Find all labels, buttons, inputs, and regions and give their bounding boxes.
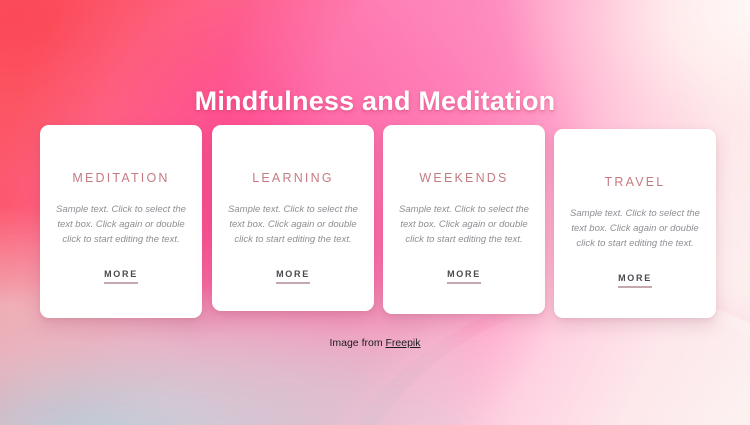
image-credit-prefix: Image from xyxy=(329,337,385,349)
card-title: TRAVEL xyxy=(567,175,703,189)
card-content: TRAVEL Sample text. Click to select the … xyxy=(554,175,716,288)
card-more-container: MORE xyxy=(567,268,703,288)
card-body-text: Sample text. Click to select the text bo… xyxy=(53,202,189,247)
card-title: WEEKENDS xyxy=(396,171,532,185)
more-link[interactable]: MORE xyxy=(447,269,481,284)
card-title: LEARNING xyxy=(225,171,361,185)
card-weekends[interactable]: WEEKENDS Sample text. Click to select th… xyxy=(383,125,545,314)
card-content: LEARNING Sample text. Click to select th… xyxy=(212,171,374,284)
page-title: Mindfulness and Meditation xyxy=(0,86,750,117)
more-link[interactable]: MORE xyxy=(104,269,138,284)
freepik-link[interactable]: Freepik xyxy=(386,337,421,349)
card-content: WEEKENDS Sample text. Click to select th… xyxy=(383,171,545,284)
page-root: Mindfulness and Meditation MEDITATION Sa… xyxy=(0,0,750,425)
card-body-text: Sample text. Click to select the text bo… xyxy=(567,206,703,251)
card-meditation[interactable]: MEDITATION Sample text. Click to select … xyxy=(40,125,202,318)
image-credit: Image from Freepik xyxy=(0,337,750,349)
card-travel[interactable]: TRAVEL Sample text. Click to select the … xyxy=(554,129,716,318)
card-more-container: MORE xyxy=(53,264,189,284)
card-content: MEDITATION Sample text. Click to select … xyxy=(40,171,202,284)
card-more-container: MORE xyxy=(396,264,532,284)
more-link[interactable]: MORE xyxy=(276,269,310,284)
card-learning[interactable]: LEARNING Sample text. Click to select th… xyxy=(212,125,374,311)
card-body-text: Sample text. Click to select the text bo… xyxy=(225,202,361,247)
card-more-container: MORE xyxy=(225,264,361,284)
more-link[interactable]: MORE xyxy=(618,273,652,288)
card-title: MEDITATION xyxy=(53,171,189,185)
card-body-text: Sample text. Click to select the text bo… xyxy=(396,202,532,247)
page-content: Mindfulness and Meditation MEDITATION Sa… xyxy=(0,0,750,425)
card-list: MEDITATION Sample text. Click to select … xyxy=(40,125,710,325)
